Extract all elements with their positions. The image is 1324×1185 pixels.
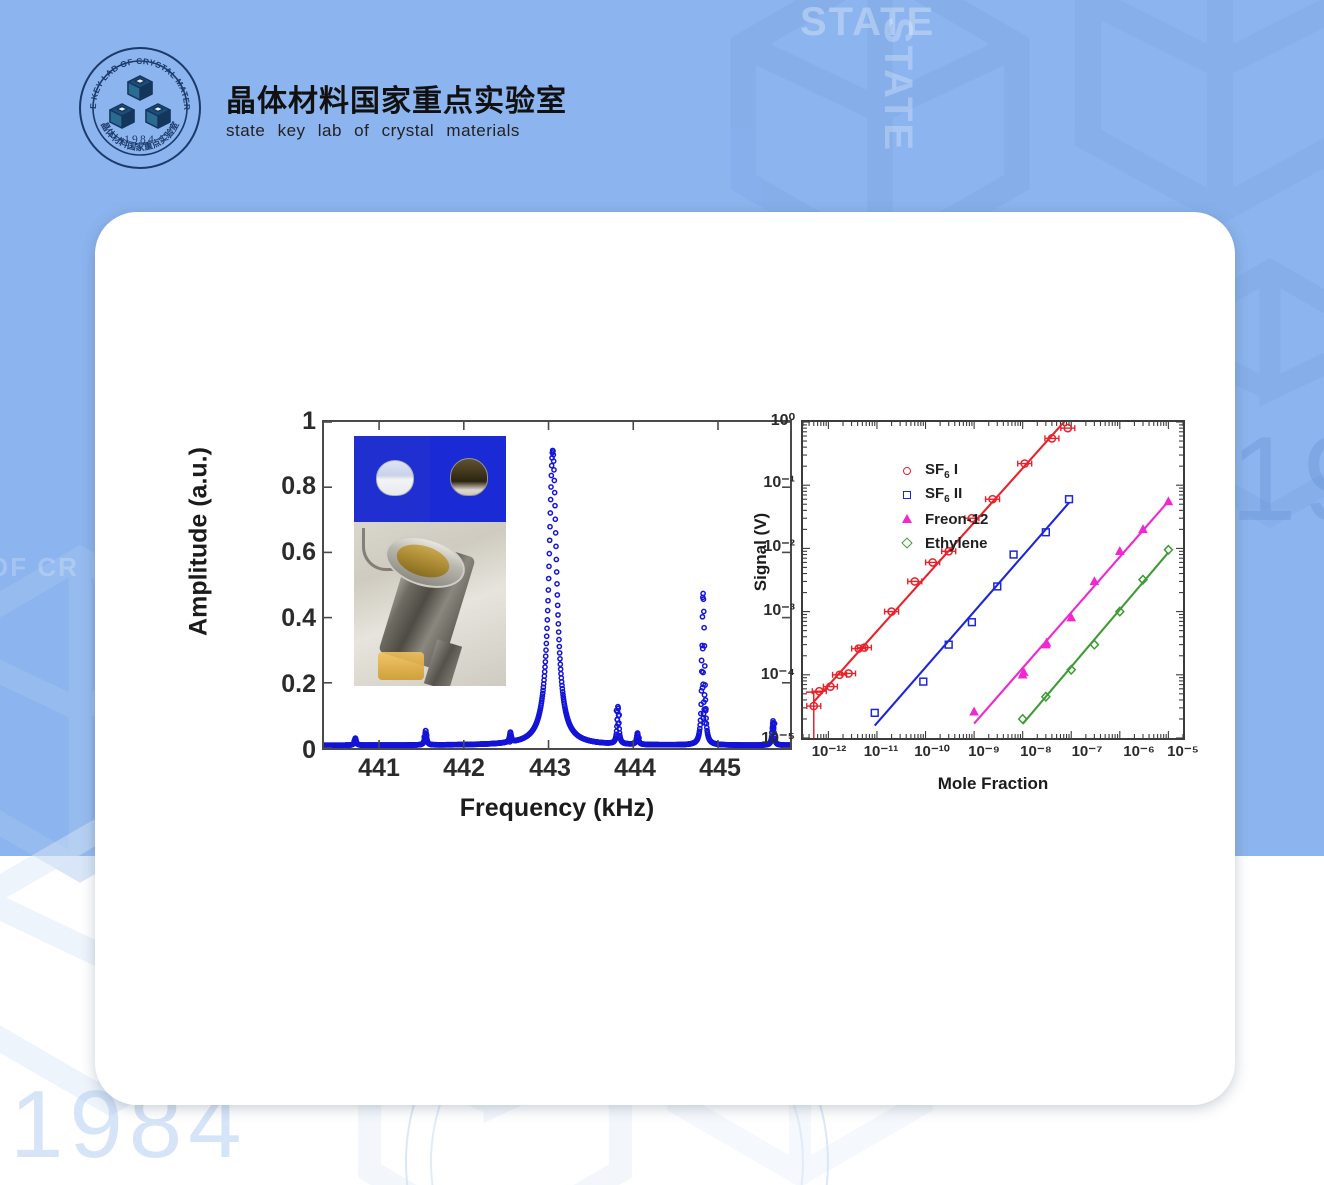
- lab-logo-icon: STATE KEY LAB OF CRYSTAL MATERIALS 晶体材料国…: [76, 44, 204, 172]
- ytick: 10⁻²: [731, 536, 795, 556]
- ytick: 0.8: [230, 472, 316, 501]
- svg-text:1984: 1984: [124, 134, 156, 146]
- watermark-year-right: 1984: [1230, 410, 1324, 548]
- ytick: 10⁻¹: [731, 472, 795, 492]
- xtick: 441: [344, 754, 414, 783]
- ytick: 0: [230, 736, 316, 765]
- ytick: 10⁻⁴: [731, 664, 795, 684]
- ytick: 0.6: [230, 538, 316, 567]
- ytick: 10⁻³: [731, 600, 795, 620]
- chart-right-yticks: 10⁰ 10⁻¹ 10⁻² 10⁻³ 10⁻⁴ 10⁻⁵: [729, 402, 795, 752]
- chart-calibration-sensitivity: Signal (V) 10⁰ 10⁻¹ 10⁻² 10⁻³ 10⁻⁴ 10⁻⁵ …: [725, 402, 1205, 832]
- xtick: 10⁻⁵: [1152, 742, 1214, 760]
- chart-left-yticks: 1 0.8 0.6 0.4 0.2 0: [228, 402, 316, 762]
- page-header: STATE KEY LAB OF CRYSTAL MATERIALS 晶体材料国…: [0, 0, 1324, 200]
- resonance-data-curve: [324, 422, 790, 748]
- chart-resonance-spectrum: Amplitude (a.u.) 1 0.8 0.6 0.4 0.2 0: [150, 402, 710, 832]
- chart-right-xticks: 10⁻¹² 10⁻¹¹ 10⁻¹⁰ 10⁻⁹ 10⁻⁸ 10⁻⁷ 10⁻⁶ 10…: [801, 742, 1185, 776]
- chart-left-xlabel: Frequency (kHz): [322, 794, 792, 823]
- watermark-text-left: OF CR: [0, 552, 79, 583]
- open-circle-icon: [899, 464, 917, 478]
- chart-left-ylabel: Amplitude (a.u.): [185, 427, 214, 657]
- ytick: 10⁰: [731, 410, 795, 430]
- calibration-data-plot: [803, 422, 1183, 738]
- xtick: 444: [600, 754, 670, 783]
- legend-item-ethylene[interactable]: Ethylene: [899, 532, 988, 554]
- figure-container: Amplitude (a.u.) 1 0.8 0.6 0.4 0.2 0: [115, 402, 1205, 872]
- open-diamond-icon: [899, 536, 917, 550]
- filled-triangle-icon: [899, 512, 917, 526]
- chart-left-xticks: 441 442 443 444 445: [322, 754, 792, 794]
- xtick: 442: [429, 754, 499, 783]
- ytick: 10⁻⁵: [731, 728, 795, 748]
- page-root: 1984 1984 OF CR STATE STATE STATE KEY LA…: [0, 0, 1324, 1185]
- chart-right-legend: SF6 I SF6 II Freon-12 Ethylene: [899, 460, 988, 556]
- legend-item-freon-12[interactable]: Freon-12: [899, 508, 988, 530]
- page-subtitle: state key lab of crystal materials: [226, 121, 520, 141]
- chart-right-plot-area: SF6 I SF6 II Freon-12 Ethylene: [801, 420, 1185, 740]
- ytick: 0.4: [230, 604, 316, 633]
- legend-label: Ethylene: [925, 535, 988, 552]
- legend-label: SF6 I: [925, 461, 958, 481]
- chart-right-xlabel: Mole Fraction: [801, 774, 1185, 794]
- open-square-icon: [899, 488, 917, 502]
- legend-label: SF6 II: [925, 485, 962, 505]
- xtick: 443: [515, 754, 585, 783]
- legend-item-sf6-ii[interactable]: SF6 II: [899, 484, 988, 506]
- ytick: 0.2: [230, 670, 316, 699]
- svg-text:STATE KEY LAB OF CRYSTAL MATER: STATE KEY LAB OF CRYSTAL MATERIALS: [76, 44, 192, 111]
- legend-item-sf6-i[interactable]: SF6 I: [899, 460, 988, 482]
- content-card: Amplitude (a.u.) 1 0.8 0.6 0.4 0.2 0: [95, 212, 1235, 1105]
- ytick: 1: [230, 407, 316, 436]
- page-title: 晶体材料国家重点实验室: [226, 76, 567, 120]
- chart-left-plot-area: [322, 420, 792, 750]
- legend-label: Freon-12: [925, 511, 988, 528]
